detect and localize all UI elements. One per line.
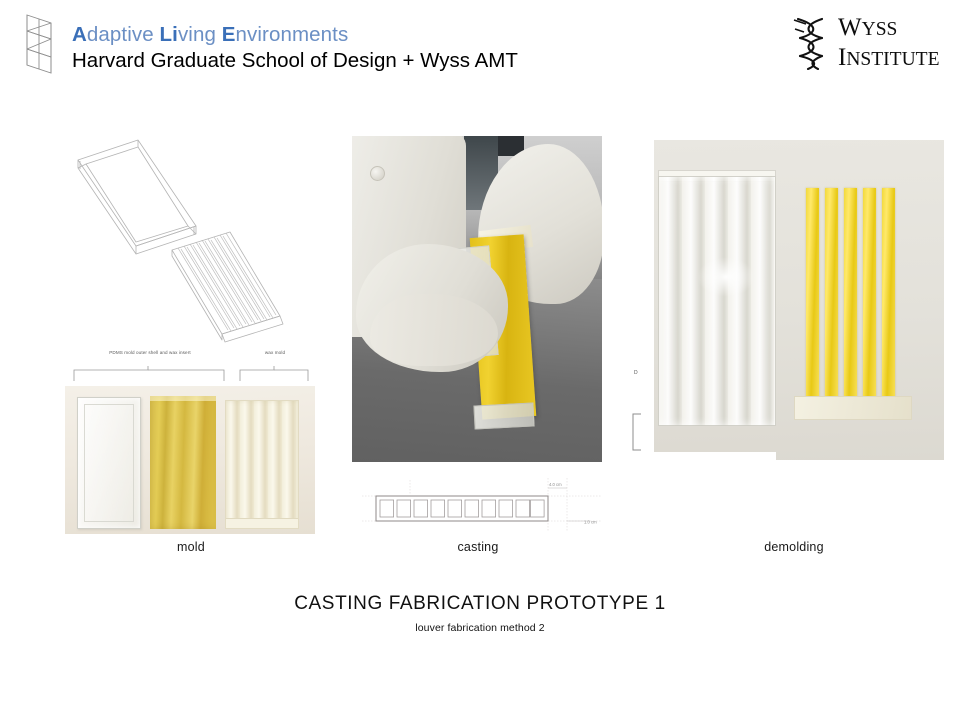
- annotation-label-wax-mold: wax mold: [238, 350, 312, 355]
- gloved-fingers: [370, 294, 498, 366]
- dna-helix-icon: [792, 16, 836, 70]
- rhombus-lattice-logo-icon: [14, 13, 64, 75]
- gloved-hands-casting-photo: [352, 136, 602, 462]
- mold-annotations: PDMS mold outer shell and wax insert wax…: [60, 350, 322, 390]
- title-segment: E: [222, 23, 236, 46]
- clipped-annotation-underlay: D: [626, 368, 648, 454]
- title-segment: daptive: [87, 23, 160, 46]
- panel-caption-mold: mold: [60, 540, 322, 554]
- demolded-parts-photo: [654, 140, 944, 460]
- page-title: Adaptive Living Environments: [72, 23, 518, 47]
- title-segment: A: [72, 23, 87, 46]
- panel-caption-demolding: demolding: [640, 540, 948, 554]
- header-titles: Adaptive Living Environments Harvard Gra…: [72, 23, 518, 73]
- pdms-shell-demolded: [658, 176, 776, 426]
- wyss-wordmark: WYSS INSTITUTE: [838, 14, 939, 74]
- footer-title: CASTING FABRICATION PROTOTYPE 1: [0, 592, 960, 616]
- footer-block: CASTING FABRICATION PROTOTYPE 1 louver f…: [0, 592, 960, 634]
- shell-highlight: [697, 257, 755, 297]
- title-segment: Li: [160, 23, 178, 46]
- brace-right-icon: [238, 360, 312, 382]
- louver-cross-section-drawing: 4.0 cm 1.0 cm: [362, 476, 602, 532]
- clipped-bracket-icon: [630, 412, 644, 452]
- louver: [844, 188, 857, 398]
- page-subtitle: Harvard Graduate School of Design + Wyss…: [72, 48, 518, 73]
- annotation-label-pdms-shell: PDMS mold outer shell and wax insert: [72, 350, 228, 355]
- svg-text:1.0 cm: 1.0 cm: [584, 520, 597, 525]
- title-segment: nvironments: [236, 23, 349, 46]
- louver-base-plate: [794, 396, 912, 420]
- brace-left-icon: [72, 360, 228, 382]
- isometric-mold-cad-drawing: [68, 130, 318, 352]
- mold-base: [473, 402, 534, 429]
- svg-text:4.0 cm: 4.0 cm: [549, 482, 562, 487]
- wyss-institute-logo: WYSS INSTITUTE: [776, 14, 948, 72]
- louver: [882, 188, 895, 398]
- panel-caption-casting: casting: [352, 540, 604, 554]
- footer-subtitle: louver fabrication method 2: [0, 622, 960, 634]
- mold-components-photo: [65, 386, 315, 534]
- louver: [806, 188, 819, 398]
- wyss-line-1: WYSS: [838, 14, 939, 44]
- photo-edge-patch: [654, 452, 776, 460]
- wyss-line-2: INSTITUTE: [838, 44, 939, 74]
- slide-header: Adaptive Living Environments Harvard Gra…: [0, 0, 960, 96]
- louver: [863, 188, 876, 398]
- wax-louver-group: [806, 188, 898, 398]
- panel-mold: PDMS mold outer shell and wax insert wax…: [60, 128, 322, 558]
- panel-casting: 4.0 cm 1.0 cm 4.0 cm 1.0 cm casting: [352, 128, 604, 558]
- lab-coat-button: [370, 166, 385, 181]
- clipped-annotation-label: D: [634, 370, 638, 376]
- pdms-outer-shell-object: [77, 397, 141, 529]
- louver: [825, 188, 838, 398]
- title-segment: ving: [178, 23, 222, 46]
- yellow-wax-insert-object: [150, 396, 216, 529]
- panel-demolding: D demolding: [640, 140, 948, 560]
- wax-mold-object: [225, 400, 299, 529]
